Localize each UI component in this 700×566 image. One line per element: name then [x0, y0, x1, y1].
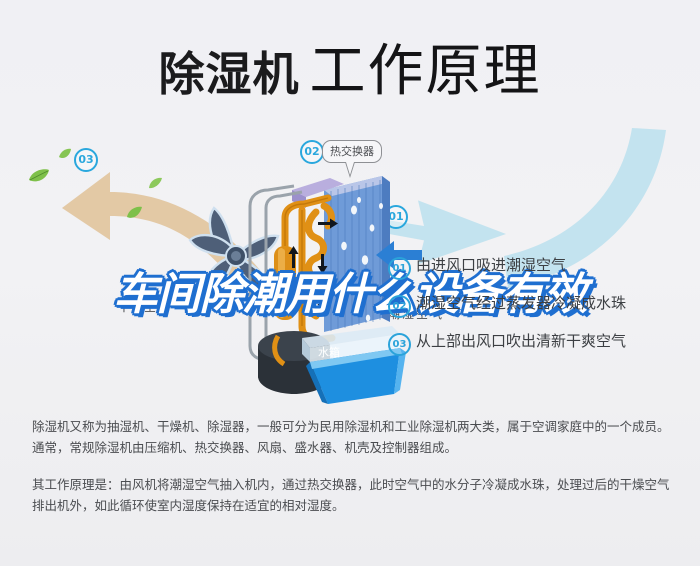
list-item: 03 从上部出风口吹出清新干爽空气: [388, 329, 688, 367]
water-tank-label: 水箱: [318, 344, 340, 360]
step-text: 由进风口吸进潮湿空气: [416, 254, 566, 275]
paragraph-1: 除湿机又称为抽湿机、干燥机、除湿器，一般可分为民用除湿机和工业除湿机两大类，属于…: [32, 416, 672, 458]
step-number: 02: [388, 295, 411, 318]
list-item: 02 潮湿空气经过蒸发器冷凝成水珠: [388, 291, 688, 329]
page-title-part2: 工作原理: [310, 39, 542, 104]
paragraph-2: 其工作原理是：由风机将潮湿空气抽入机内，通过热交换器，此时空气中的水分子冷凝成水…: [32, 474, 672, 516]
badge-03: 03: [74, 148, 98, 172]
step-number: 03: [388, 333, 411, 356]
leaf-icon: [148, 176, 163, 189]
page-title-part1: 除湿机: [159, 47, 300, 101]
leaf-icon: [28, 168, 50, 184]
leaf-icon: [58, 148, 72, 160]
steps-list: 01 由进风口吸进潮湿空气 02 潮湿空气经过蒸发器冷凝成水珠 03 从上部出风…: [388, 253, 688, 367]
leaf-icon: [126, 206, 143, 220]
list-item: 01 由进风口吸进潮湿空气: [388, 253, 688, 291]
body-copy: 除湿机又称为抽湿机、干燥机、除湿器，一般可分为民用除湿机和工业除湿机两大类，属于…: [32, 416, 672, 532]
page-title: 除湿机工作原理: [0, 26, 700, 107]
infographic-page: 除湿机工作原理 03 02 01 干燥空气 潮湿: [0, 0, 700, 566]
step-text: 从上部出风口吹出清新干爽空气: [416, 330, 626, 351]
step-number: 01: [388, 257, 411, 280]
step-text: 潮湿空气经过蒸发器冷凝成水珠: [416, 292, 626, 313]
